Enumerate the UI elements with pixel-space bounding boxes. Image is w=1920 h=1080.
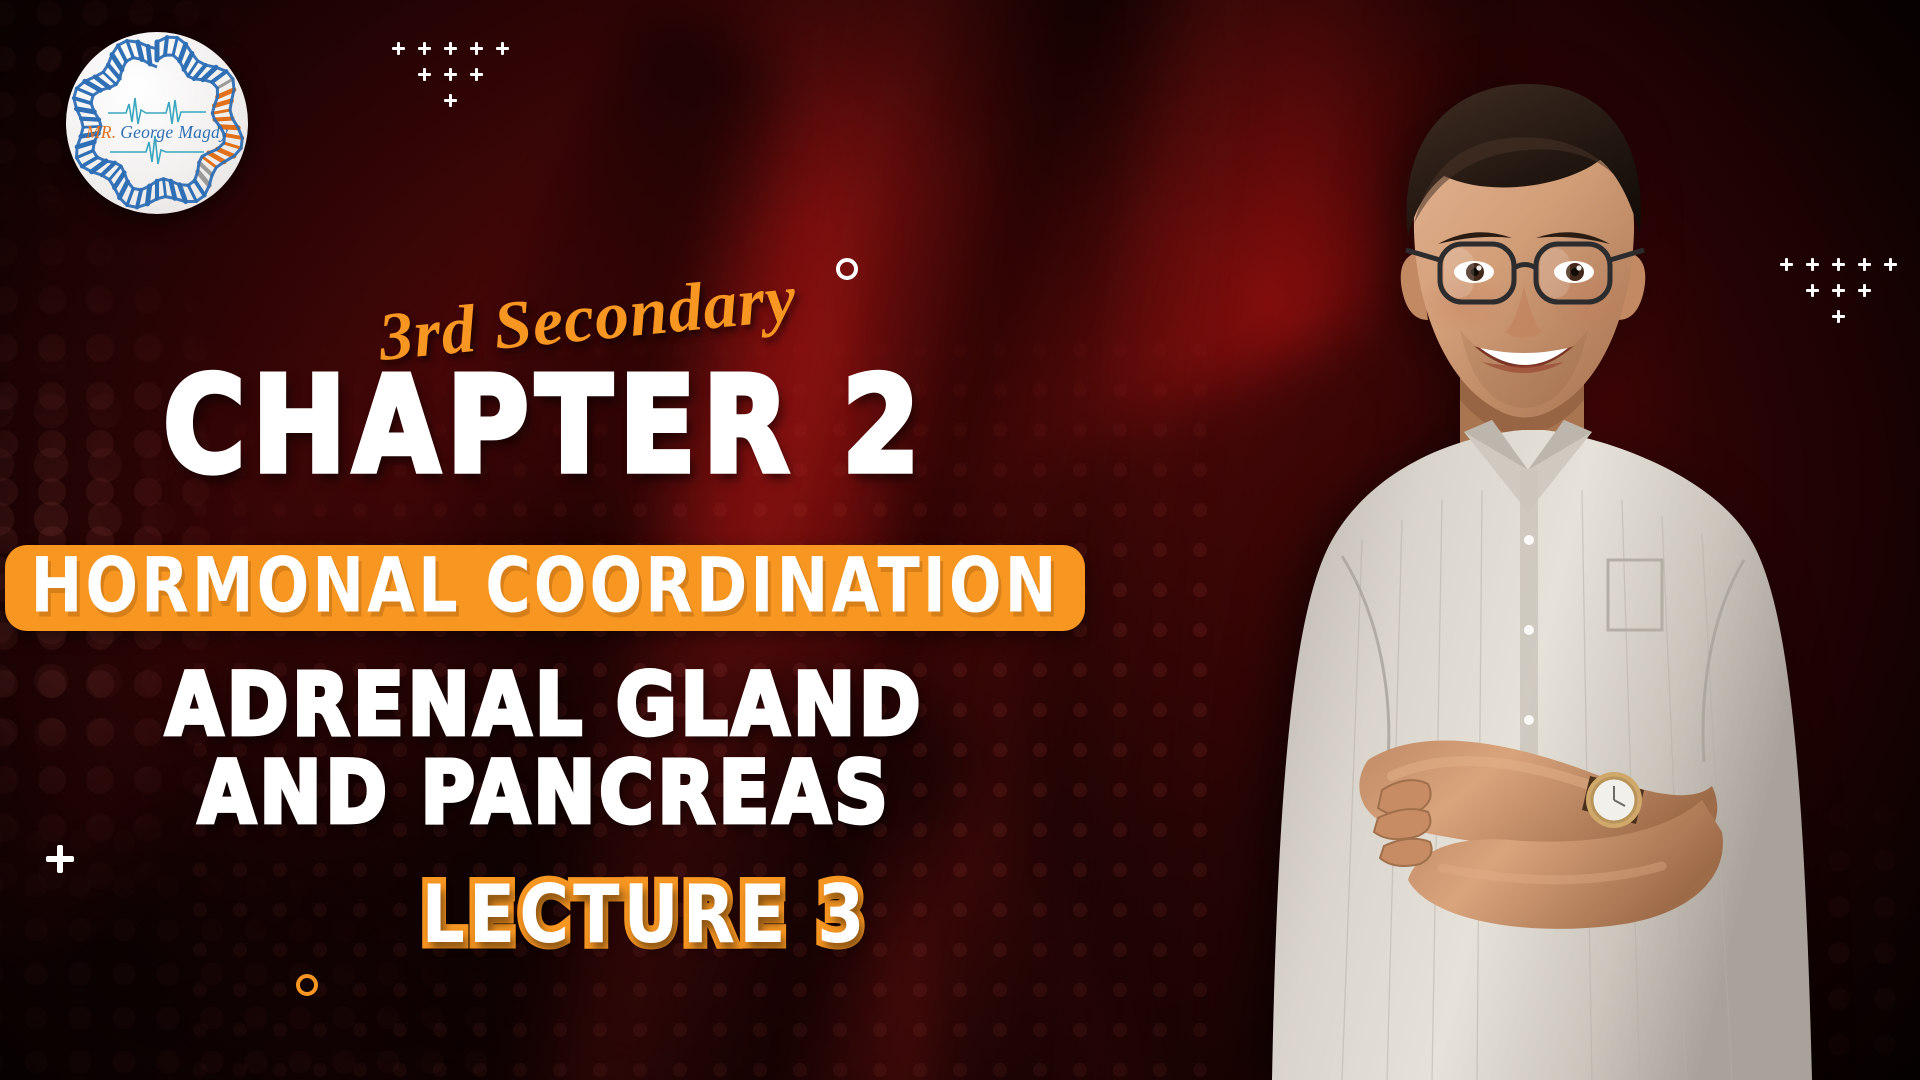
- chapter-title: CHAPTER 2: [0, 360, 1090, 492]
- subtitle-line-2: AND PANCREAS: [0, 750, 1090, 836]
- hormonal-coordination-banner: HORMONAL COORDINATION: [5, 545, 1086, 631]
- plus-icon: [1884, 284, 1897, 297]
- plus-icon: [1884, 310, 1897, 323]
- plus-icon: [1884, 258, 1897, 271]
- plus-icon: [1884, 362, 1897, 375]
- banner-wrap: HORMONAL COORDINATION: [0, 545, 1090, 631]
- plus-icon: [1884, 336, 1897, 349]
- hormonal-coordination-text: HORMONAL COORDINATION: [31, 548, 1060, 624]
- poster-stage: MR.GeorgeMagdy 3rd Secondary CHAPTER 2 H…: [0, 0, 1920, 1080]
- lecture-badge: LECTURE 3: [411, 864, 878, 967]
- instructor-portrait: [1192, 0, 1882, 1080]
- title-block: 3rd Secondary CHAPTER 2 HORMONAL COORDIN…: [0, 0, 1210, 1080]
- lecture-wrap: LECTURE 3: [0, 872, 1290, 959]
- subtitle-line-1: ADRENAL GLAND: [0, 662, 1090, 748]
